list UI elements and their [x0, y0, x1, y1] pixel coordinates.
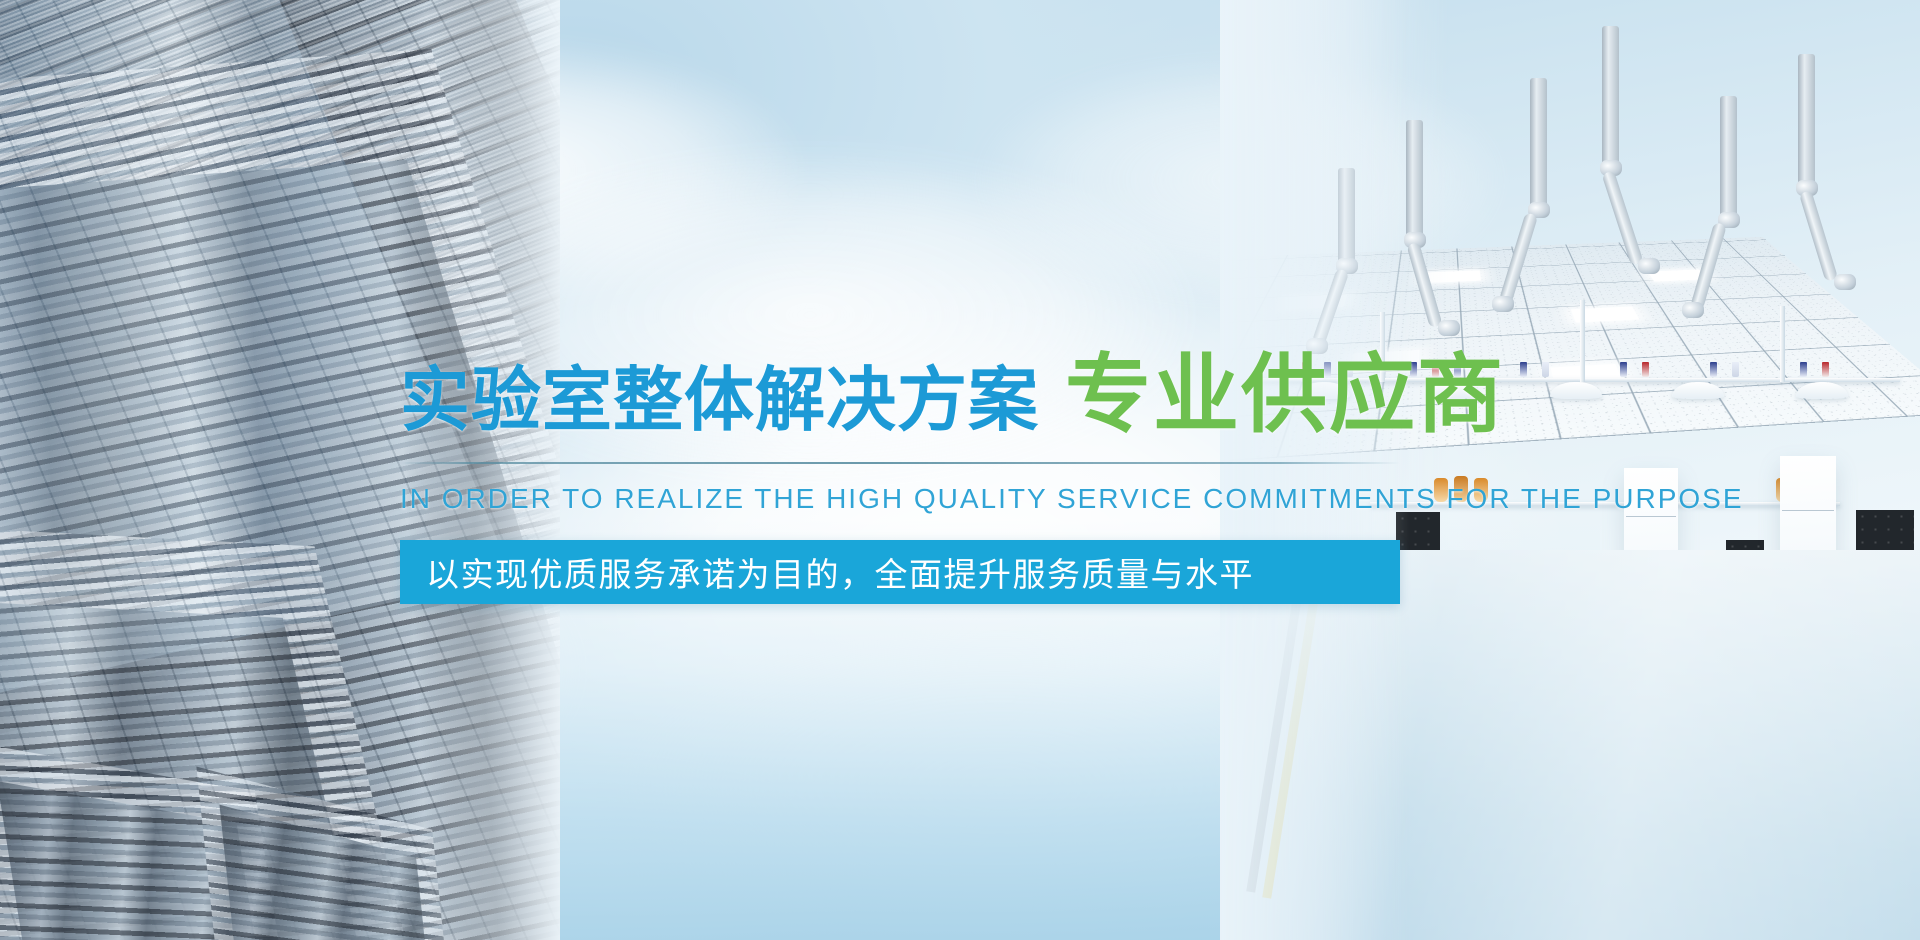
hero-banner: 实验室整体解决方案 专业供应商 IN ORDER TO REALIZE THE …	[0, 0, 1920, 940]
tagline-text: 以实现优质服务承诺为目的，全面提升服务质量与水平	[426, 548, 1254, 596]
headline-accent: 专业供应商	[1065, 352, 1505, 438]
banner-copy: 实验室整体解决方案 专业供应商 IN ORDER TO REALIZE THE …	[400, 352, 1410, 604]
headline-primary: 实验室整体解决方案	[400, 365, 1039, 435]
lab-floor	[1220, 550, 1920, 940]
subtitle-english: IN ORDER TO REALIZE THE HIGH QUALITY SER…	[400, 483, 1410, 515]
headline-divider-rule	[400, 462, 1400, 464]
floor-reflection	[1220, 550, 1920, 940]
tagline-bar: 以实现优质服务承诺为目的，全面提升服务质量与水平	[400, 540, 1400, 604]
headline: 实验室整体解决方案 专业供应商	[400, 352, 1410, 444]
